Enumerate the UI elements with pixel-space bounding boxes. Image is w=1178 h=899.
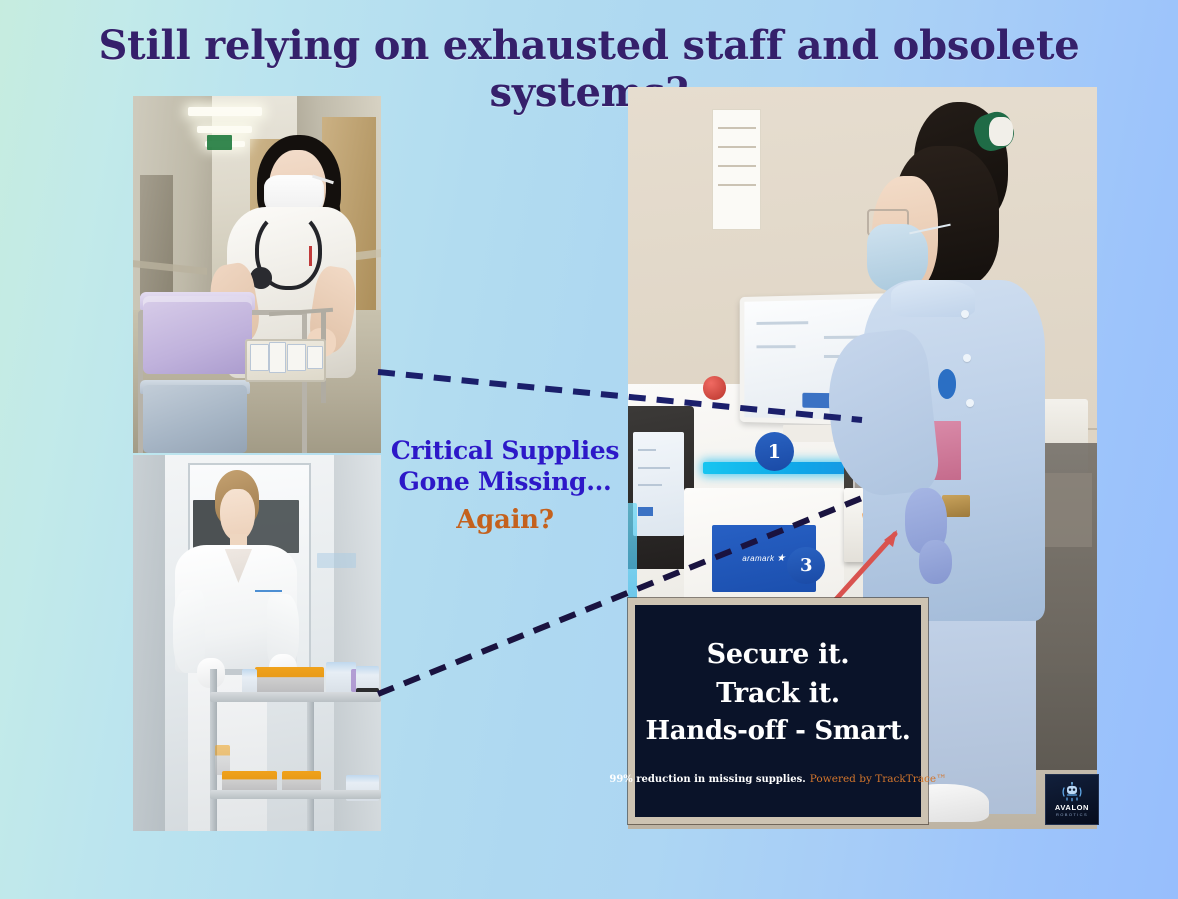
corridor-door-far [140,175,172,296]
blue-supply-bin [143,385,247,453]
callout-footer: 99% reduction in missing supplies. Power… [609,769,946,787]
uniform-button [966,399,974,407]
robot-brand-label: aramark [742,554,774,563]
photo-nurse-corridor-art [133,96,381,453]
center-message-line1: Critical Supplies [380,436,630,467]
lanyard-reel [938,369,957,399]
callout-line1: Secure it. [707,635,850,674]
robot-status-screen [633,432,685,536]
avalon-logo-name: AVALON [1055,804,1089,812]
avalon-logo-subtitle: ROBOTICS [1056,813,1088,817]
callout-box: Secure it. Track it. Hands-off - Smart. … [628,598,928,824]
robot-drawer-number-1: 1 [755,432,794,471]
exit-sign [207,135,232,150]
medication-box [269,342,286,373]
avalon-robotics-logo: AVALON ROBOTICS [1045,774,1099,825]
photo-nurse-corridor [133,96,381,453]
nurse-glove [919,540,952,585]
photo-nurse-lab [133,455,381,831]
callout-powered-by: Powered by TrackTrace™ [810,773,947,785]
hair-clip [989,117,1012,147]
wall-notice [712,109,761,230]
brand-star-icon: ★ [776,553,785,564]
lab-wall-sign [317,553,357,568]
medication-box [250,344,269,371]
slide-canvas: Still relying on exhausted staff and obs… [0,0,1178,899]
uniform-button [961,310,969,318]
lab-cart-shelf [210,692,381,702]
lab-wall-left [133,455,165,831]
robot-head-icon [1060,782,1084,802]
pocket-pen [309,246,312,266]
medication-box [287,344,306,371]
lavender-supply-bin [143,296,252,375]
ceiling-light [188,107,262,116]
robot-drawer-number-3: 3 [787,547,825,584]
callout-line3: Hands-off - Smart. [645,713,910,751]
callout-line2: Track it. [716,674,840,713]
center-message: Critical Supplies Gone Missing... Again? [380,436,630,537]
ceiling-light [197,126,252,133]
lab-cart-shelf [210,790,381,799]
center-message-line2: Gone Missing... [380,467,630,498]
callout-stat: 99% reduction in missing supplies. [609,774,805,785]
medication-box [307,346,324,369]
center-message-line3: Again? [380,505,630,537]
photo-nurse-lab-art [133,455,381,831]
